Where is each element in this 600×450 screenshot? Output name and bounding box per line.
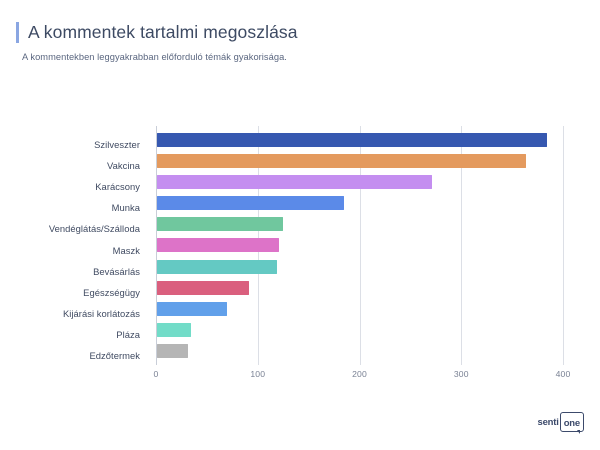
bar-10[interactable] (157, 344, 188, 358)
bar-9[interactable] (157, 323, 191, 337)
bar-row (156, 214, 563, 235)
bar-2[interactable] (157, 175, 432, 189)
x-axis-ticks: 0100200300400 (156, 369, 563, 385)
x-tick-label: 0 (154, 369, 159, 379)
bar-8[interactable] (157, 302, 227, 316)
bar-6[interactable] (157, 260, 277, 274)
bar-5[interactable] (157, 238, 279, 252)
bar-row (156, 257, 563, 278)
bar-chart: 0100200300400 (0, 126, 600, 386)
x-tick-label: 300 (454, 369, 469, 379)
bar-row (156, 151, 563, 172)
title-row: A kommentek tartalmi megoszlása (0, 22, 600, 43)
bar-row (156, 130, 563, 151)
bar-7[interactable] (157, 281, 249, 295)
chart-page: A kommentek tartalmi megoszlása A kommen… (0, 0, 600, 450)
page-title: A kommentek tartalmi megoszlása (28, 22, 298, 43)
x-tick-label: 400 (556, 369, 571, 379)
bar-row (156, 278, 563, 299)
title-accent-bar (16, 22, 19, 43)
bar-row (156, 341, 563, 362)
logo-speech-bubble-icon: one (560, 412, 584, 432)
bar-row (156, 193, 563, 214)
x-tick-label: 200 (352, 369, 367, 379)
bar-row (156, 320, 563, 341)
logo-text-senti: senti (538, 417, 559, 428)
bar-row (156, 172, 563, 193)
bar-row (156, 299, 563, 320)
bar-1[interactable] (157, 154, 526, 168)
chart-header: A kommentek tartalmi megoszlása A kommen… (0, 22, 600, 62)
bar-4[interactable] (157, 217, 283, 231)
bar-0[interactable] (157, 133, 547, 147)
plot-area (156, 126, 563, 365)
sentione-logo: senti one (538, 412, 584, 432)
bar-group (156, 130, 563, 362)
logo-text-one: one (564, 418, 580, 429)
gridline-400 (563, 126, 564, 365)
page-subtitle: A kommentekben leggyakrabban előforduló … (0, 52, 600, 62)
x-tick-label: 100 (250, 369, 265, 379)
bar-row (156, 235, 563, 256)
bar-3[interactable] (157, 196, 344, 210)
